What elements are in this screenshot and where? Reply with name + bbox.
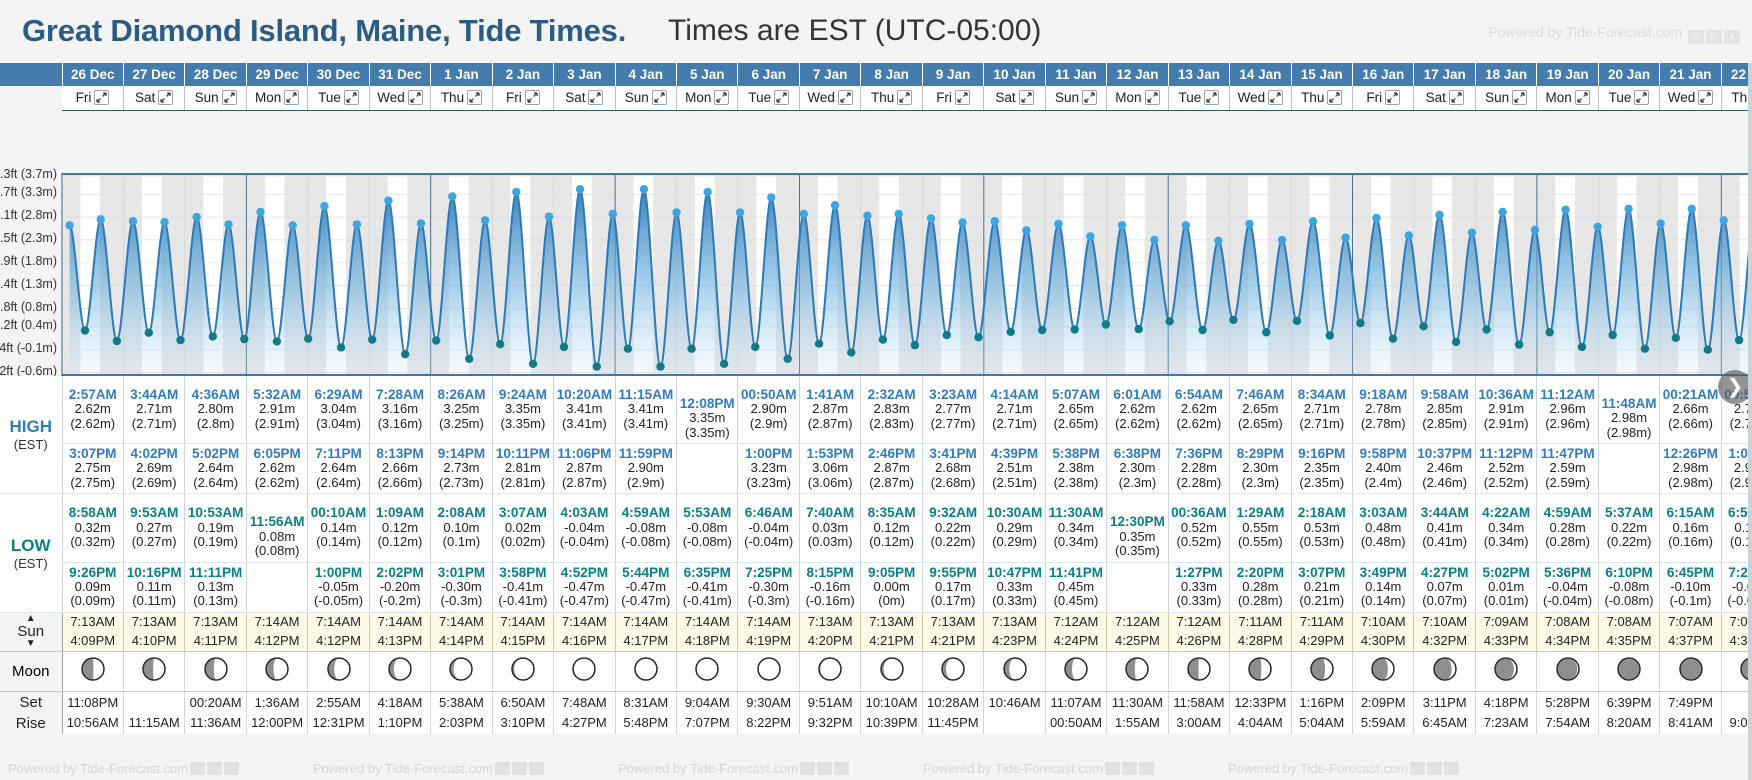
low-tide-cell-am-2[interactable]: 10:53AM0.19m(0.19m): [185, 494, 246, 562]
low-tide-cell-am-13[interactable]: 8:35AM0.12m(0.12m): [861, 494, 922, 562]
moonset-time: 9:51AM: [800, 693, 860, 713]
moon-setrise-cell-3: 1:36AM12:00PM: [246, 691, 307, 734]
weekday-cell-1[interactable]: Sat: [123, 86, 184, 110]
high-tide-cell-am-23[interactable]: 10:36AM2.91m(2.91m): [1475, 376, 1536, 444]
expand-icon[interactable]: [1082, 90, 1097, 105]
date-header-21[interactable]: 16 Jan: [1353, 63, 1414, 86]
high-tide-cell-pm-24[interactable]: 11:47PM2.59m(2.59m): [1537, 444, 1598, 494]
moon-row: Moon: [0, 651, 1752, 691]
high-tide-cell-am-8[interactable]: 10:20AM3.41m(3.41m): [554, 376, 615, 444]
tide-time: 7:46AM: [1230, 387, 1290, 402]
expand-icon[interactable]: [838, 90, 853, 105]
low-tide-cell-am-3[interactable]: 11:56AM0.08m(0.08m): [246, 494, 307, 562]
low-tide-cell-pm-13[interactable]: 9:05PM0.00m(0m): [861, 562, 922, 612]
high-tide-cell-pm-18[interactable]: 7:36PM2.28m(2.28m): [1168, 444, 1229, 494]
tide-height: 2.62m: [63, 402, 123, 417]
date-header-26[interactable]: 21 Jan: [1660, 63, 1721, 86]
weekday-cell-18[interactable]: Tue: [1168, 86, 1229, 110]
tide-height-alt: (0.14m): [308, 535, 368, 550]
tide-height: -0.47m: [616, 580, 676, 595]
tide-time: 2:46PM: [861, 446, 921, 461]
tide-time: 3:07PM: [1292, 565, 1352, 580]
date-header-17[interactable]: 12 Jan: [1107, 63, 1168, 86]
date-header-8[interactable]: 3 Jan: [554, 63, 615, 86]
tide-time: 4:27PM: [1414, 565, 1474, 580]
date-header-23[interactable]: 18 Jan: [1475, 63, 1536, 86]
low-tide-cell-pm-8[interactable]: 4:52PM-0.47m(-0.47m): [554, 562, 615, 612]
tide-height: -0.08m: [1599, 580, 1659, 595]
low-tide-cell-am-16[interactable]: 11:30AM0.34m(0.34m): [1045, 494, 1106, 562]
tide-height-alt: (2.38m): [1046, 476, 1106, 491]
date-header-3[interactable]: 29 Dec: [246, 63, 307, 86]
tide-height: -0.41m: [493, 580, 553, 595]
low-tide-cell-pm-21[interactable]: 3:49PM0.14m(0.14m): [1353, 562, 1414, 612]
weekday-cell-5[interactable]: Wed: [369, 86, 430, 110]
sunset-time: 4:13PM: [370, 632, 430, 651]
weekday-cell-10[interactable]: Mon: [677, 86, 738, 110]
high-tide-cell-am-10[interactable]: 12:08PM3.35m(3.35m): [677, 376, 738, 444]
tide-height: 2.90m: [616, 461, 676, 476]
sun-label: ▲Sun▼: [0, 612, 62, 651]
moon-cell-3: [246, 651, 307, 691]
low-tide-cell-am-26[interactable]: 6:15AM0.16m(0.16m): [1660, 494, 1721, 562]
high-tide-cell-pm-20[interactable]: 9:16PM2.35m(2.35m): [1291, 444, 1352, 494]
expand-icon[interactable]: [94, 90, 109, 105]
moonset-time: 1:16PM: [1292, 693, 1352, 713]
tide-height-alt: (2.9m): [738, 417, 798, 432]
tide-time: 6:10PM: [1599, 565, 1659, 580]
footer-watermark-2: Powered by Tide-Forecast.com: [618, 761, 849, 776]
weekday-cell-16[interactable]: Sun: [1045, 86, 1106, 110]
tide-time: 9:58PM: [1353, 446, 1413, 461]
expand-icon[interactable]: [1385, 90, 1400, 105]
low-tide-cell-pm-2[interactable]: 11:11PM0.13m(0.13m): [185, 562, 246, 612]
sunset-time: 4:33PM: [1476, 632, 1536, 651]
low-tide-cell-am-19[interactable]: 1:29AM0.55m(0.55m): [1230, 494, 1291, 562]
high-tide-cell-pm-0[interactable]: 3:07PM2.75m(2.75m): [62, 444, 123, 494]
sunrise-time: 7:13AM: [185, 613, 245, 632]
date-header-6[interactable]: 1 Jan: [431, 63, 492, 86]
expand-icon[interactable]: [284, 90, 299, 105]
high-tide-cell-am-13[interactable]: 2:32AM2.83m(2.83m): [861, 376, 922, 444]
low-label-tz: (EST): [0, 556, 62, 571]
tide-height-alt: (0.12m): [861, 535, 921, 550]
moonrise-time: 9:32PM: [800, 713, 860, 733]
tide-time: 4:36AM: [185, 387, 245, 402]
high-tide-cell-pm-6[interactable]: 9:14PM2.73m(2.73m): [431, 444, 492, 494]
date-header-5[interactable]: 31 Dec: [369, 63, 430, 86]
high-tide-cell-am-11[interactable]: 00:50AM2.90m(2.9m): [738, 376, 799, 444]
high-tide-cell-pm-1[interactable]: 4:02PM2.69m(2.69m): [123, 444, 184, 494]
high-tide-cell-pm-13[interactable]: 2:46PM2.87m(2.87m): [861, 444, 922, 494]
footer-icon: [224, 762, 239, 775]
moon-phase-icon: [203, 656, 229, 682]
date-header-25[interactable]: 20 Jan: [1598, 63, 1659, 86]
weekday-cell-14[interactable]: Fri: [922, 86, 983, 110]
sunset-time: 4:28PM: [1230, 632, 1290, 651]
low-tide-cell-am-11[interactable]: 6:46AM-0.04m(-0.04m): [738, 494, 799, 562]
moon-setrise-cell-16: 11:07AM00:50AM: [1045, 691, 1106, 734]
low-tide-cell-am-21[interactable]: 3:03AM0.48m(0.48m): [1353, 494, 1414, 562]
date-header-10[interactable]: 5 Jan: [677, 63, 738, 86]
moonset-time: 10:10AM: [861, 693, 921, 713]
high-tide-cell-am-16[interactable]: 5:07AM2.65m(2.65m): [1045, 376, 1106, 444]
low-tide-cell-pm-10[interactable]: 6:35PM-0.41m(-0.41m): [677, 562, 738, 612]
tide-height: 2.59m: [1537, 461, 1597, 476]
low-tide-cell-am-20[interactable]: 2:18AM0.53m(0.53m): [1291, 494, 1352, 562]
high-tide-cell-am-9[interactable]: 11:15AM3.41m(3.41m): [615, 376, 676, 444]
high-tide-cell-pm-9[interactable]: 11:59PM2.90m(2.9m): [615, 444, 676, 494]
low-tide-cell-pm-4[interactable]: 1:00PM-0.05m(-0.05m): [308, 562, 369, 612]
low-tide-cell-am-25[interactable]: 5:37AM0.22m(0.22m): [1598, 494, 1659, 562]
tide-height-alt: (0.08m): [247, 544, 307, 559]
low-tide-cell-pm-11[interactable]: 7:25PM-0.30m(-0.3m): [738, 562, 799, 612]
moon-setrise-cell-18: 11:58AM3:00AM: [1168, 691, 1229, 734]
tide-time: 00:10AM: [308, 505, 368, 520]
low-tide-cell-pm-1[interactable]: 10:16PM0.11m(0.11m): [123, 562, 184, 612]
tide-height-alt: (2.87m): [554, 476, 614, 491]
refresh-icon[interactable]: ⟳: [1706, 30, 1722, 44]
tide-time: 11:47PM: [1537, 446, 1597, 461]
low-tide-cell-pm-5[interactable]: 2:02PM-0.20m(-0.2m): [369, 562, 430, 612]
low-tide-cell-am-9[interactable]: 4:59AM-0.08m(-0.08m): [615, 494, 676, 562]
weekday-cell-12[interactable]: Wed: [799, 86, 860, 110]
tide-chart-page: Great Diamond Island, Maine, Tide Times.…: [0, 0, 1752, 780]
high-tide-cell-pm-26[interactable]: 12:26PM2.98m(2.98m): [1660, 444, 1721, 494]
weekday-cell-20[interactable]: Thu: [1291, 86, 1352, 110]
sun-cell-4: 7:14AM4:12PM: [308, 612, 369, 651]
tide-height-alt: (0.28m): [1537, 535, 1597, 550]
high-tide-cell-am-6[interactable]: 8:26AM3.25m(3.25m): [431, 376, 492, 444]
low-tide-cell-pm-0[interactable]: 9:26PM0.09m(0.09m): [62, 562, 123, 612]
high-tide-cell-am-2[interactable]: 4:36AM2.80m(2.8m): [185, 376, 246, 444]
high-tide-cell-am-17[interactable]: 6:01AM2.62m(2.62m): [1107, 376, 1168, 444]
moon-cell-5: [369, 651, 430, 691]
weekday-cell-25[interactable]: Tue: [1598, 86, 1659, 110]
low-tide-cell-pm-22[interactable]: 4:27PM0.07m(0.07m): [1414, 562, 1475, 612]
tide-height-alt: (0.16m): [1660, 535, 1720, 550]
low-tide-cell-pm-23[interactable]: 5:02PM0.01m(0.01m): [1475, 562, 1536, 612]
tide-height-alt: (-0.08m): [616, 535, 676, 550]
tide-time: 9:16PM: [1292, 446, 1352, 461]
tide-height-alt: (2.62m): [247, 476, 307, 491]
expand-icon[interactable]: [714, 90, 729, 105]
low-tide-cell-pm-14[interactable]: 9:55PM0.17m(0.17m): [922, 562, 983, 612]
tide-height: 2.62m: [247, 461, 307, 476]
low-tide-row-1: LOW(EST)8:58AM0.32m(0.32m)9:53AM0.27m(0.…: [0, 494, 1752, 562]
tide-height: 0.08m: [247, 530, 307, 545]
weekday-cell-15[interactable]: Sat: [984, 86, 1045, 110]
high-tide-cell-pm-7[interactable]: 10:11PM2.81m(2.81m): [492, 444, 553, 494]
low-tide-cell-pm-empty-17: [1107, 562, 1168, 612]
tide-height: 3.25m: [431, 402, 491, 417]
low-tide-cell-am-24[interactable]: 4:59AM0.28m(0.28m): [1537, 494, 1598, 562]
high-tide-cell-am-0[interactable]: 2:57AM2.62m(2.62m): [62, 376, 123, 444]
low-tide-cell-am-22[interactable]: 3:44AM0.41m(0.41m): [1414, 494, 1475, 562]
tide-time: 6:54AM: [1169, 387, 1229, 402]
date-header-24[interactable]: 19 Jan: [1537, 63, 1598, 86]
expand-icon[interactable]: [1634, 90, 1649, 105]
date-header-20[interactable]: 15 Jan: [1291, 63, 1352, 86]
expand-icon[interactable]: [1512, 90, 1527, 105]
low-tide-cell-am-14[interactable]: 9:32AM0.22m(0.22m): [922, 494, 983, 562]
low-tide-cell-pm-26[interactable]: 6:45PM-0.10m(-0.1m): [1660, 562, 1721, 612]
high-tide-cell-am-12[interactable]: 1:41AM2.87m(2.87m): [799, 376, 860, 444]
weekday-cell-8[interactable]: Sat: [554, 86, 615, 110]
tide-time: 8:35AM: [861, 505, 921, 520]
expand-icon[interactable]: [344, 90, 359, 105]
low-tide-cell-am-12[interactable]: 7:40AM0.03m(0.03m): [799, 494, 860, 562]
low-tide-cell-am-23[interactable]: 4:22AM0.34m(0.34m): [1475, 494, 1536, 562]
high-tide-cell-pm-17[interactable]: 6:38PM2.30m(2.3m): [1107, 444, 1168, 494]
date-header-22[interactable]: 17 Jan: [1414, 63, 1475, 86]
low-tide-cell-am-1[interactable]: 9:53AM0.27m(0.27m): [123, 494, 184, 562]
sunrise-time: 7:08AM: [1537, 613, 1597, 632]
high-tide-cell-am-15[interactable]: 4:14AM2.71m(2.71m): [984, 376, 1045, 444]
low-tide-cell-pm-18[interactable]: 1:27PM0.33m(0.33m): [1168, 562, 1229, 612]
high-tide-cell-pm-15[interactable]: 4:39PM2.51m(2.51m): [984, 444, 1045, 494]
high-tide-cell-pm-3[interactable]: 6:05PM2.62m(2.62m): [246, 444, 307, 494]
expand-icon[interactable]: [222, 90, 237, 105]
high-tide-cell-am-21[interactable]: 9:18AM2.78m(2.78m): [1353, 376, 1414, 444]
weekday-cell-11[interactable]: Tue: [738, 86, 799, 110]
date-header-15[interactable]: 10 Jan: [984, 63, 1045, 86]
tide-time: 3:44AM: [124, 387, 184, 402]
high-tide-cell-pm-8[interactable]: 11:06PM2.87m(2.87m): [554, 444, 615, 494]
tide-time: 3:07PM: [63, 446, 123, 461]
tide-height: 0.28m: [1230, 580, 1290, 595]
tide-time: 4:52PM: [554, 565, 614, 580]
right-edge-scrollbar[interactable]: [1748, 63, 1752, 780]
low-tide-cell-pm-15[interactable]: 10:47PM0.33m(0.33m): [984, 562, 1045, 612]
high-tide-cell-pm-22[interactable]: 10:37PM2.46m(2.46m): [1414, 444, 1475, 494]
expand-icon[interactable]: [1575, 90, 1590, 105]
high-tide-cell-am-5[interactable]: 7:28AM3.16m(3.16m): [369, 376, 430, 444]
weekday-cell-13[interactable]: Thu: [861, 86, 922, 110]
low-tide-cell-am-8[interactable]: 4:03AM-0.04m(-0.04m): [554, 494, 615, 562]
expand-icon[interactable]: [467, 90, 482, 105]
weekday-cell-6[interactable]: Thu: [431, 86, 492, 110]
weekday-cell-9[interactable]: Sun: [615, 86, 676, 110]
weekday-label: Wed: [807, 90, 835, 105]
high-tide-cell-am-24[interactable]: 11:12AM2.96m(2.96m): [1537, 376, 1598, 444]
high-tide-cell-pm-23[interactable]: 11:12PM2.52m(2.52m): [1475, 444, 1536, 494]
moon-phase-icon: [326, 656, 352, 682]
tide-height: 2.78m: [1353, 402, 1413, 417]
tide-height-alt: (2.91m): [247, 417, 307, 432]
low-tide-cell-am-18[interactable]: 00:36AM0.52m(0.52m): [1168, 494, 1229, 562]
warning-icon[interactable]: ▲: [1724, 30, 1740, 44]
expand-icon[interactable]: [774, 90, 789, 105]
next-page-button[interactable]: ❯: [1718, 370, 1752, 404]
expand-icon[interactable]: [955, 90, 970, 105]
high-tide-cell-pm-11[interactable]: 1:00PM3.23m(3.23m): [738, 444, 799, 494]
high-tide-cell-pm-12[interactable]: 1:53PM3.06m(3.06m): [799, 444, 860, 494]
high-tide-cell-pm-4[interactable]: 7:11PM2.64m(2.64m): [308, 444, 369, 494]
weekday-cell-0[interactable]: Fri: [62, 86, 123, 110]
moonset-time: 11:08PM: [63, 693, 123, 713]
tide-height-alt: (0.53m): [1292, 535, 1352, 550]
tide-height: 2.40m: [1353, 461, 1413, 476]
moonrise-time: 7:23AM: [1476, 713, 1536, 733]
expand-icon[interactable]: [525, 90, 540, 105]
expand-icon[interactable]: [408, 90, 423, 105]
date-header-1[interactable]: 27 Dec: [123, 63, 184, 86]
tide-time: 7:11PM: [308, 446, 368, 461]
high-tide-cell-pm-16[interactable]: 5:38PM2.38m(2.38m): [1045, 444, 1106, 494]
tide-time: 10:37PM: [1414, 446, 1474, 461]
high-tide-cell-am-3[interactable]: 5:32AM2.91m(2.91m): [246, 376, 307, 444]
low-tide-cell-am-15[interactable]: 10:30AM0.29m(0.29m): [984, 494, 1045, 562]
high-tide-cell-am-26[interactable]: 00:21AM2.66m(2.66m): [1660, 376, 1721, 444]
weekday-cell-2[interactable]: Sun: [185, 86, 246, 110]
tide-time: 12:30PM: [1107, 514, 1167, 529]
low-tide-cell-am-7[interactable]: 3:07AM0.02m(0.02m): [492, 494, 553, 562]
tide-height-alt: (0.22m): [1599, 535, 1659, 550]
moon-cell-10: [677, 651, 738, 691]
expand-icon[interactable]: [1268, 90, 1283, 105]
tide-time: 1:41AM: [800, 387, 860, 402]
moonrise-time: 12:31PM: [308, 713, 368, 733]
high-tide-cell-am-14[interactable]: 3:23AM2.77m(2.77m): [922, 376, 983, 444]
low-tide-cell-pm-12[interactable]: 8:15PM-0.16m(-0.16m): [799, 562, 860, 612]
tide-height: 2.80m: [185, 402, 245, 417]
date-header-13[interactable]: 8 Jan: [861, 63, 922, 86]
high-tide-cell-pm-21[interactable]: 9:58PM2.40m(2.4m): [1353, 444, 1414, 494]
weekday-cell-21[interactable]: Fri: [1353, 86, 1414, 110]
moonrise-time: 5:59AM: [1353, 713, 1413, 733]
tide-height-alt: (0.14m): [1353, 594, 1413, 609]
sunset-time: 4:23PM: [984, 632, 1044, 651]
high-tide-cell-am-20[interactable]: 8:34AM2.71m(2.71m): [1291, 376, 1352, 444]
moon-setrise-cell-25: 6:39PM8:20AM: [1598, 691, 1659, 734]
tide-time: 3:01PM: [431, 565, 491, 580]
high-tide-cell-am-25[interactable]: 11:48AM2.98m(2.98m): [1598, 376, 1659, 444]
date-header-7[interactable]: 2 Jan: [492, 63, 553, 86]
date-header-2[interactable]: 28 Dec: [185, 63, 246, 86]
weekday-label: Tue: [748, 90, 771, 105]
high-tide-cell-am-7[interactable]: 9:24AM3.35m(3.35m): [492, 376, 553, 444]
expand-icon[interactable]: [1327, 90, 1342, 105]
tide-height: 3.41m: [616, 402, 676, 417]
high-tide-cell-am-4[interactable]: 6:29AM3.04m(3.04m): [308, 376, 369, 444]
expand-icon[interactable]: [1145, 90, 1160, 105]
low-tide-cell-pm-25[interactable]: 6:10PM-0.08m(-0.08m): [1598, 562, 1659, 612]
tide-height-alt: (0.07m): [1414, 594, 1474, 609]
low-tide-cell-pm-6[interactable]: 3:01PM-0.30m(-0.3m): [431, 562, 492, 612]
tide-height-alt: (0.17m): [923, 594, 983, 609]
tide-time: 1:53PM: [800, 446, 860, 461]
moon-phase-icon: [1247, 656, 1273, 682]
low-tide-cell-pm-20[interactable]: 3:07PM0.21m(0.21m): [1291, 562, 1352, 612]
date-header-11[interactable]: 6 Jan: [738, 63, 799, 86]
weekday-cell-4[interactable]: Tue: [308, 86, 369, 110]
date-header-12[interactable]: 7 Jan: [799, 63, 860, 86]
tide-time: 3:07AM: [493, 505, 553, 520]
date-header-18[interactable]: 13 Jan: [1168, 63, 1229, 86]
date-header-0[interactable]: 26 Dec: [62, 63, 123, 86]
expand-icon[interactable]: [1019, 90, 1034, 105]
moonset-time: 11:58AM: [1169, 693, 1229, 713]
tide-height-alt: (2.87m): [861, 476, 921, 491]
high-tide-cell-am-19[interactable]: 7:46AM2.65m(2.65m): [1230, 376, 1291, 444]
high-tide-cell-am-22[interactable]: 9:58AM2.85m(2.85m): [1414, 376, 1475, 444]
expand-icon[interactable]: [652, 90, 667, 105]
sunset-time: 4:30PM: [1353, 632, 1413, 651]
tide-time: 9:55PM: [923, 565, 983, 580]
high-tide-cell-am-1[interactable]: 3:44AM2.71m(2.71m): [123, 376, 184, 444]
weekday-cell-26[interactable]: Wed: [1660, 86, 1721, 110]
weekday-cell-19[interactable]: Wed: [1230, 86, 1291, 110]
chart-icon[interactable]: M: [1688, 30, 1704, 44]
high-tide-cell-pm-2[interactable]: 5:02PM2.64m(2.64m): [185, 444, 246, 494]
low-tide-cell-am-5[interactable]: 1:09AM0.12m(0.12m): [369, 494, 430, 562]
high-tide-cell-pm-5[interactable]: 8:13PM2.66m(2.66m): [369, 444, 430, 494]
date-header-14[interactable]: 9 Jan: [922, 63, 983, 86]
moon-cell-19: [1230, 651, 1291, 691]
low-tide-cell-pm-9[interactable]: 5:44PM-0.47m(-0.47m): [615, 562, 676, 612]
tide-height-alt: (0m): [861, 594, 921, 609]
tide-height: 0.33m: [1169, 580, 1229, 595]
tide-height: 2.65m: [1230, 402, 1290, 417]
weekday-cell-7[interactable]: Fri: [492, 86, 553, 110]
low-tide-cell-pm-16[interactable]: 11:41PM0.45m(0.45m): [1045, 562, 1106, 612]
sunrise-time: 7:14AM: [738, 613, 798, 632]
low-tide-cell-pm-19[interactable]: 2:20PM0.28m(0.28m): [1230, 562, 1291, 612]
tide-time: 7:36PM: [1169, 446, 1229, 461]
weekday-cell-23[interactable]: Sun: [1475, 86, 1536, 110]
expand-icon[interactable]: [158, 90, 173, 105]
expand-icon[interactable]: [1449, 90, 1464, 105]
moon-phase-icon: [1555, 656, 1581, 682]
low-tide-cell-am-6[interactable]: 2:08AM0.10m(0.1m): [431, 494, 492, 562]
sun-cell-19: 7:11AM4:28PM: [1230, 612, 1291, 651]
weekday-label: Fri: [1366, 90, 1382, 105]
weekday-cell-24[interactable]: Mon: [1537, 86, 1598, 110]
moonrise-time: 11:45PM: [923, 713, 983, 733]
date-header-19[interactable]: 14 Jan: [1230, 63, 1291, 86]
sunset-time: 4:26PM: [1169, 632, 1229, 651]
high-tide-cell-am-18[interactable]: 6:54AM2.62m(2.62m): [1168, 376, 1229, 444]
moon-cell-1: [123, 651, 184, 691]
high-tide-cell-pm-14[interactable]: 3:41PM2.68m(2.68m): [922, 444, 983, 494]
date-header-16[interactable]: 11 Jan: [1045, 63, 1106, 86]
expand-icon[interactable]: [897, 90, 912, 105]
sun-cell-23: 7:09AM4:33PM: [1475, 612, 1536, 651]
low-tide-cell-pm-7[interactable]: 3:58PM-0.41m(-0.41m): [492, 562, 553, 612]
tide-height: -0.04m: [738, 521, 798, 536]
moonset-time: 5:38AM: [431, 693, 491, 713]
weekday-cell-3[interactable]: Mon: [246, 86, 307, 110]
tide-height-alt: (3.25m): [431, 417, 491, 432]
expand-icon[interactable]: [588, 90, 603, 105]
moonrise-time: 2:03PM: [431, 713, 491, 733]
date-header-4[interactable]: 30 Dec: [308, 63, 369, 86]
tide-height: 0.21m: [1292, 580, 1352, 595]
weekday-cell-17[interactable]: Mon: [1107, 86, 1168, 110]
moon-cell-21: [1353, 651, 1414, 691]
low-tide-cell-am-10[interactable]: 5:53AM-0.08m(-0.08m): [677, 494, 738, 562]
high-tide-cell-pm-19[interactable]: 8:29PM2.30m(2.3m): [1230, 444, 1291, 494]
expand-icon[interactable]: [1204, 90, 1219, 105]
low-tide-cell-am-17[interactable]: 12:30PM0.35m(0.35m): [1107, 494, 1168, 562]
date-header-9[interactable]: 4 Jan: [615, 63, 676, 86]
low-tide-cell-am-4[interactable]: 00:10AM0.14m(0.14m): [308, 494, 369, 562]
low-tide-cell-am-0[interactable]: 8:58AM0.32m(0.32m): [62, 494, 123, 562]
low-tide-cell-pm-24[interactable]: 5:36PM-0.04m(-0.04m): [1537, 562, 1598, 612]
weekday-cell-22[interactable]: Sat: [1414, 86, 1475, 110]
expand-icon[interactable]: [1698, 90, 1713, 105]
